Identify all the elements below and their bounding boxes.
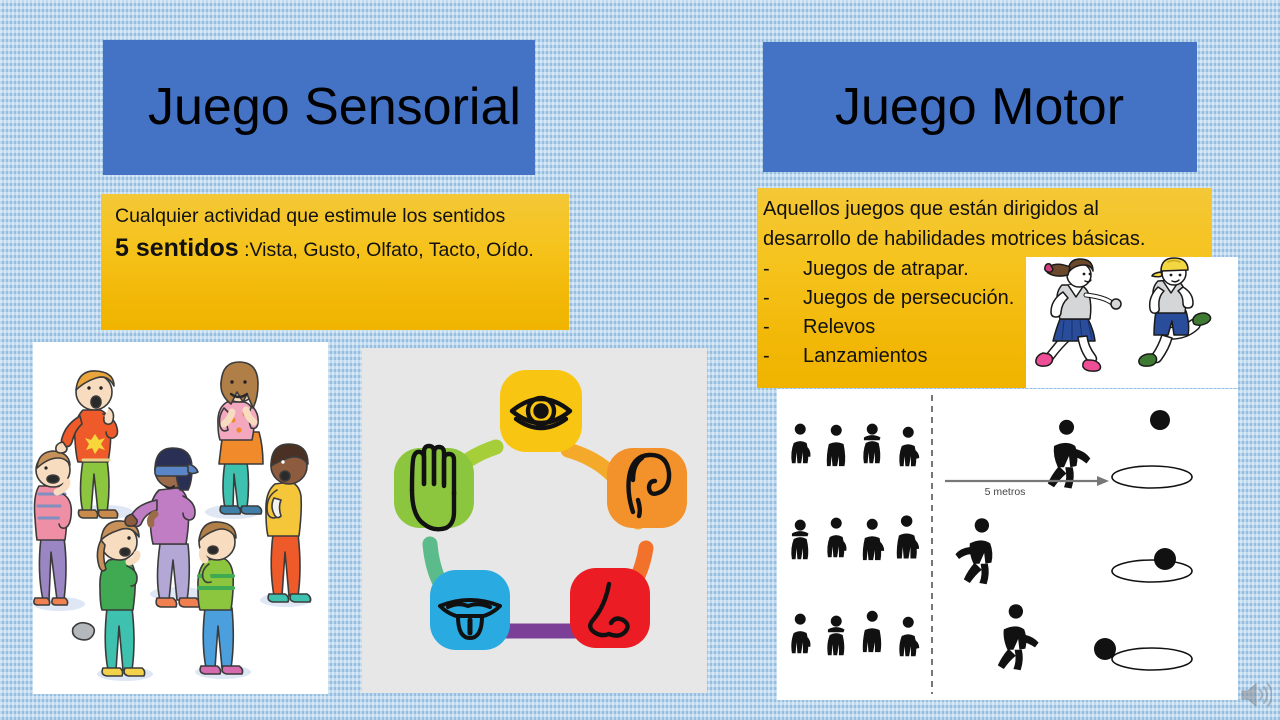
sensorial-senses-rest: :Vista, Gusto, Olfato, Tacto, Oído. xyxy=(239,239,534,261)
bullet-dash: - xyxy=(763,342,803,371)
running-children-image xyxy=(1026,257,1238,388)
speaker-icon[interactable] xyxy=(1238,680,1272,710)
children-playing-clipart-icon xyxy=(33,342,328,694)
page-title-left: Juego Sensorial xyxy=(148,80,521,135)
ball-icon xyxy=(1154,548,1176,570)
smell-tile xyxy=(570,568,650,648)
bullet-dash: - xyxy=(763,313,803,342)
distance-label: 5 metros xyxy=(985,486,1026,498)
five-senses-diagram xyxy=(362,348,707,693)
slide-canvas: Juego Sensorial Juego Motor Cualquier ac… xyxy=(0,0,1280,720)
ball-icon xyxy=(1150,410,1170,430)
sight-tile xyxy=(500,370,582,452)
bullet-dash: - xyxy=(763,284,803,313)
sensorial-bold-lead: 5 sentidos xyxy=(115,234,239,262)
sensorial-line1: Cualquier actividad que estimule los sen… xyxy=(115,203,559,231)
relay-race-diagram: 5 metros xyxy=(777,389,1238,700)
motor-intro-line2: desarrollo de habilidades motrices básic… xyxy=(763,226,1204,254)
relay-drill-icon: 5 metros xyxy=(777,389,1238,700)
page-title-right: Juego Motor xyxy=(835,80,1124,135)
hearing-tile xyxy=(607,448,687,528)
touch-tile xyxy=(394,446,474,529)
taste-tile xyxy=(430,570,510,650)
motor-intro-line1: Aquellos juegos que están dirigidos al xyxy=(763,196,1204,224)
title-box-juego-sensorial: Juego Sensorial xyxy=(103,40,535,175)
children-playing-image xyxy=(33,342,328,694)
title-box-juego-motor: Juego Motor xyxy=(763,42,1197,172)
five-senses-circle-icon xyxy=(362,348,707,693)
bullet-dash: - xyxy=(763,255,803,284)
description-box-sensorial: Cualquier actividad que estimule los sen… xyxy=(101,194,569,330)
running-children-clipart-icon xyxy=(1026,257,1238,388)
sensorial-senses-line: 5 sentidos :Vista, Gusto, Olfato, Tacto,… xyxy=(115,231,559,267)
